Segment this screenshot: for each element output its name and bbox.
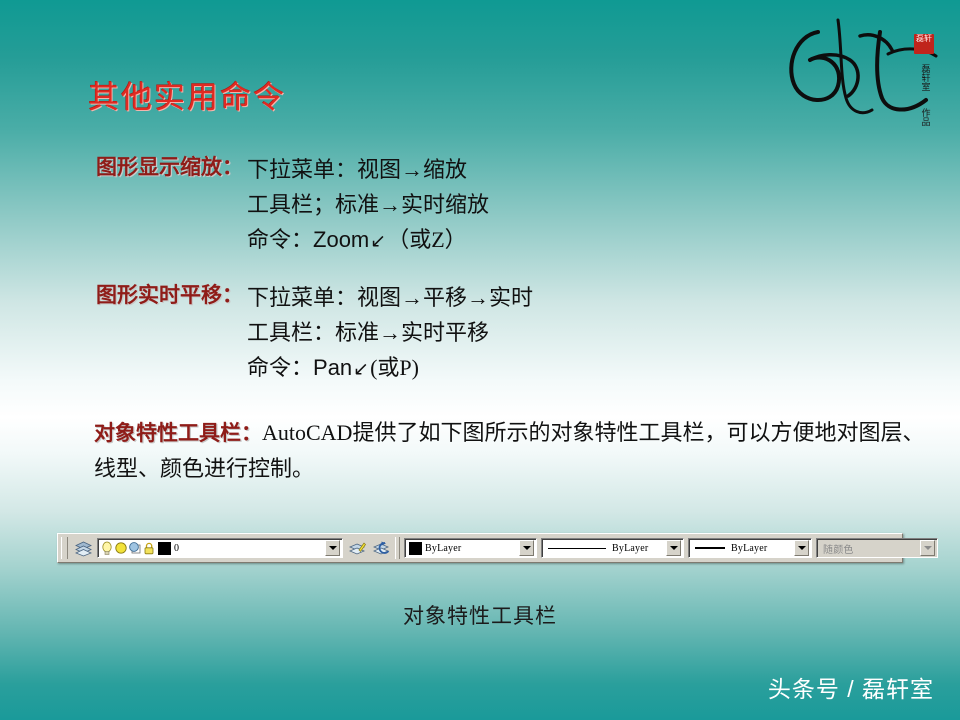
content-block-pan: 图形实时平移： 下拉菜单：视图→平移→实时 工具栏：标准→实时平移 命令：Pan…: [96, 280, 533, 387]
make-object-layer-current-icon[interactable]: [346, 537, 368, 559]
page-title: 其他实用命令: [88, 72, 286, 117]
red-seal-icon: 磊轩: [914, 34, 934, 54]
layer-combo-dropdown-arrow[interactable]: [325, 540, 340, 556]
layer-combo-value: 0: [174, 543, 179, 554]
lineweight-preview-line: [695, 547, 725, 549]
color-combo-dropdown-arrow[interactable]: [519, 540, 534, 556]
seal-group: 磊轩 磊轩室 作品: [914, 34, 936, 131]
command-name: Zoom: [313, 227, 369, 252]
layer-combo[interactable]: 0: [97, 538, 343, 558]
command-line: 命令：Zoom↙（或Z）: [247, 222, 489, 259]
layer-previous-icon[interactable]: [370, 537, 392, 559]
linetype-preview-line: [548, 548, 606, 549]
layer-lock-icon[interactable]: [142, 541, 156, 556]
autocad-object-properties-toolbar: 0 ByLayer: [57, 533, 903, 563]
command-name: Pan: [313, 355, 352, 380]
layer-combo-body[interactable]: 0: [98, 539, 325, 557]
color-combo-body[interactable]: ByLayer: [405, 539, 519, 557]
command-suffix: (或P): [370, 355, 419, 380]
color-combo[interactable]: ByLayer: [404, 538, 537, 558]
linetype-combo[interactable]: ByLayer: [541, 538, 684, 558]
toolbar-path-line: 工具栏：标准→实时平移: [247, 315, 533, 350]
layer-properties-manager-icon[interactable]: [72, 537, 94, 559]
menu-path-line: 下拉菜单：视图→平移→实时: [247, 280, 533, 315]
lineweight-combo[interactable]: ByLayer: [688, 538, 812, 558]
layer-color-swatch: [158, 542, 171, 555]
enter-key-icon: ↙: [369, 230, 387, 252]
block-lines: 下拉菜单：视图→缩放 工具栏；标准→实时缩放 命令：Zoom↙（或Z）: [247, 152, 489, 259]
content-block-zoom: 图形显示缩放： 下拉菜单：视图→缩放 工具栏；标准→实时缩放 命令：Zoom↙（…: [96, 152, 489, 259]
plotstyle-combo-dropdown-arrow: [920, 540, 935, 556]
linetype-combo-value: ByLayer: [612, 543, 648, 554]
toolbar-grip-handle[interactable]: [61, 537, 68, 559]
menu-path-line: 下拉菜单：视图→缩放: [247, 152, 489, 187]
paragraph: 对象特性工具栏：AutoCAD提供了如下图所示的对象特性工具栏，可以方便地对图层…: [94, 415, 944, 487]
block-heading: 图形显示缩放：: [96, 152, 243, 182]
color-swatch: [409, 542, 422, 555]
command-line: 命令：Pan↙(或P): [247, 350, 533, 387]
plotstyle-combo: 随颜色: [816, 538, 938, 558]
logo-vertical-text-1: 磊轩室: [919, 64, 932, 91]
layer-on-off-lightbulb-icon[interactable]: [100, 541, 114, 556]
lineweight-combo-dropdown-arrow[interactable]: [794, 540, 809, 556]
toolbar-separator: [395, 537, 400, 559]
brand-logo: 磊轩 磊轩室 作品: [776, 2, 952, 130]
linetype-combo-body[interactable]: ByLayer: [542, 539, 666, 557]
plotstyle-combo-body: 随颜色: [817, 539, 920, 557]
content-block-object-properties: 对象特性工具栏：AutoCAD提供了如下图所示的对象特性工具栏，可以方便地对图层…: [94, 415, 944, 487]
block-heading: 对象特性工具栏：: [94, 421, 262, 445]
toolbar-path-line: 工具栏；标准→实时缩放: [247, 187, 489, 222]
layer-freeze-viewport-icon[interactable]: [128, 541, 142, 556]
figure-caption: 对象特性工具栏: [0, 600, 960, 630]
command-prefix: 命令：: [247, 227, 313, 252]
block-heading: 图形实时平移：: [96, 280, 243, 310]
enter-key-icon: ↙: [352, 358, 370, 380]
watermark-label: 头条号 / 磊轩室: [768, 670, 934, 704]
color-combo-value: ByLayer: [425, 543, 461, 554]
block-lines: 下拉菜单：视图→平移→实时 工具栏：标准→实时平移 命令：Pan↙(或P): [247, 280, 533, 387]
paragraph-text-part1: AutoCAD: [262, 420, 352, 445]
lineweight-combo-value: ByLayer: [731, 543, 767, 554]
logo-vertical-text-2: 作品: [919, 108, 932, 126]
slide-canvas: 磊轩 磊轩室 作品 其他实用命令 图形显示缩放： 下拉菜单：视图→缩放 工具栏；…: [0, 0, 960, 720]
plotstyle-combo-value: 随颜色: [819, 541, 854, 556]
layer-freeze-sun-icon[interactable]: [114, 541, 128, 556]
calligraphy-signature-icon: [776, 2, 952, 130]
command-suffix: （或Z）: [387, 227, 466, 252]
command-prefix: 命令：: [247, 355, 313, 380]
linetype-combo-dropdown-arrow[interactable]: [666, 540, 681, 556]
lineweight-combo-body[interactable]: ByLayer: [689, 539, 794, 557]
